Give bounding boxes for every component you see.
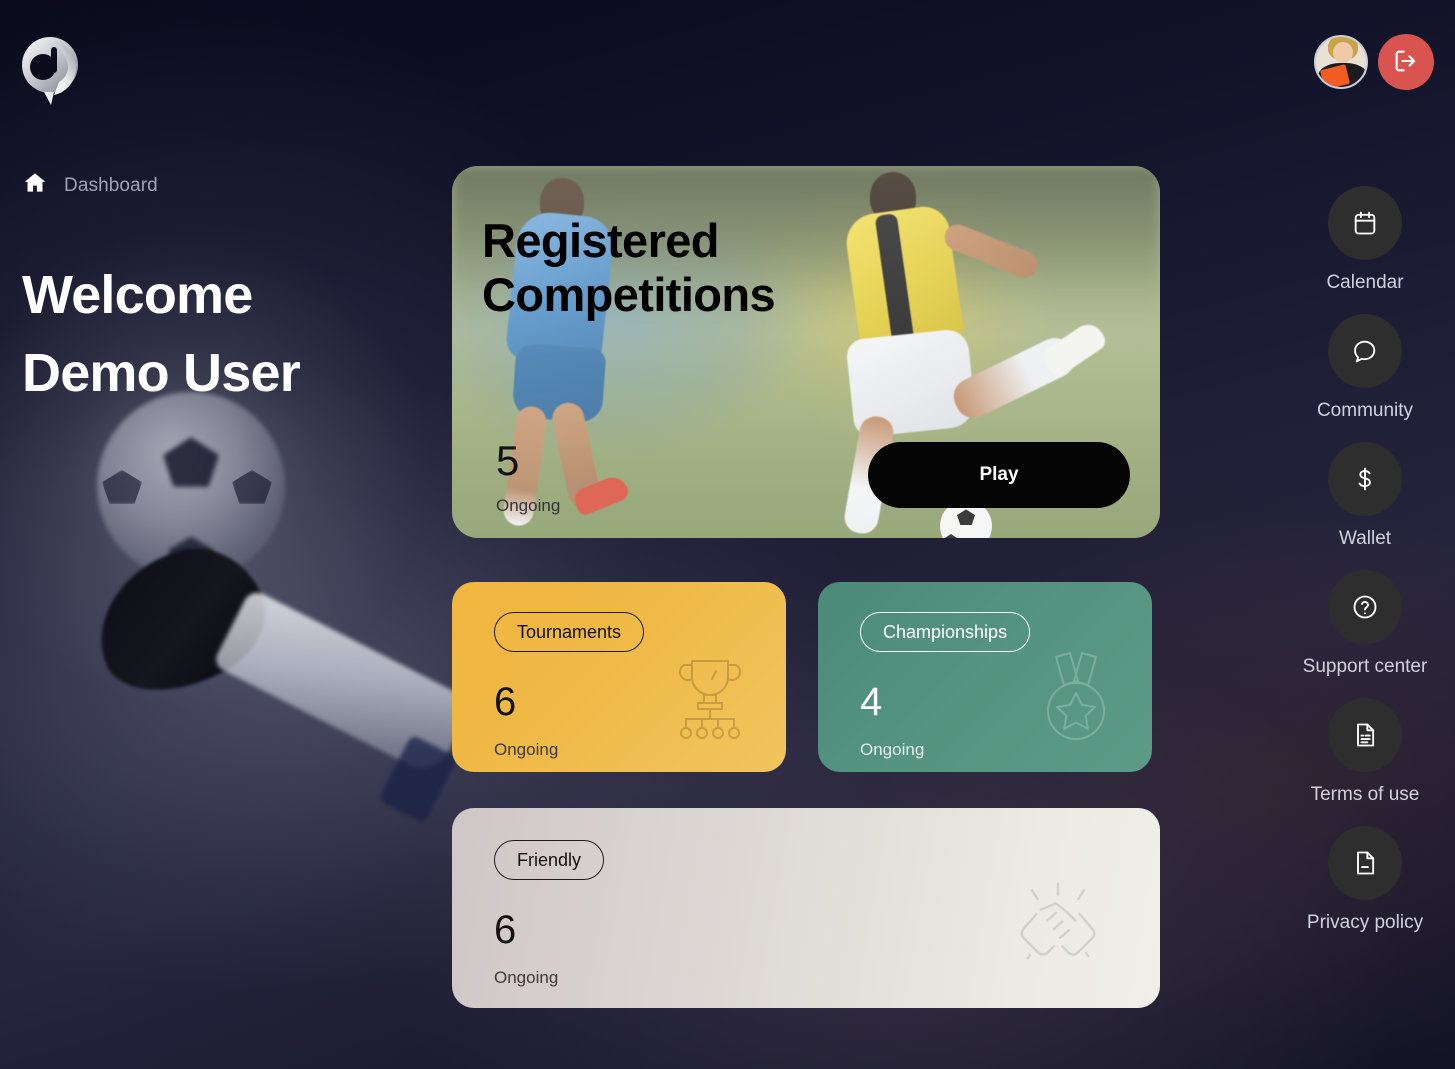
chat-bubble-icon — [1328, 314, 1402, 388]
tournaments-card[interactable]: Tournaments 6 Ongoing — [452, 582, 786, 772]
welcome-username: Demo User — [22, 334, 300, 412]
nav-item-wallet[interactable]: Wallet — [1275, 442, 1455, 550]
championships-card[interactable]: Championships 4 Ongoing — [818, 582, 1152, 772]
top-bar — [0, 0, 1455, 140]
friendly-count: 6 — [494, 910, 1160, 950]
nav-item-community[interactable]: Community — [1275, 314, 1455, 422]
registered-competitions-card[interactable]: Registered Competitions 5 Ongoing Play — [452, 166, 1160, 538]
championships-status: Ongoing — [860, 740, 1152, 760]
nav-label-wallet: Wallet — [1339, 528, 1391, 550]
avatar-face — [1333, 42, 1353, 63]
question-circle-icon — [1328, 570, 1402, 644]
friendly-status: Ongoing — [494, 968, 1160, 988]
brand-logo-icon[interactable] — [21, 35, 80, 105]
logout-button[interactable] — [1378, 34, 1434, 90]
nav-item-support-center[interactable]: Support center — [1275, 570, 1455, 678]
user-avatar[interactable] — [1314, 35, 1368, 89]
logout-icon — [1392, 47, 1420, 78]
tournaments-status: Ongoing — [494, 740, 786, 760]
nav-item-calendar[interactable]: Calendar — [1275, 186, 1455, 294]
nav-label-support-center: Support center — [1303, 656, 1428, 678]
hero-title: Registered Competitions — [482, 214, 862, 322]
welcome-block: Welcome Demo User — [22, 256, 300, 412]
calendar-icon — [1328, 186, 1402, 260]
play-button[interactable]: Play — [868, 442, 1130, 508]
championships-chip: Championships — [860, 612, 1030, 652]
header-actions — [1314, 34, 1434, 90]
tournaments-chip: Tournaments — [494, 612, 644, 652]
nav-label-privacy-policy: Privacy policy — [1307, 912, 1423, 934]
breadcrumb[interactable]: Dashboard — [22, 170, 158, 201]
friendly-chip: Friendly — [494, 840, 604, 880]
nav-label-calendar: Calendar — [1326, 272, 1403, 294]
nav-item-privacy-policy[interactable]: Privacy policy — [1275, 826, 1455, 934]
hero-status: Ongoing — [496, 496, 560, 516]
stat-card-row: Tournaments 6 Ongoing — [452, 582, 1160, 772]
hero-stat: 5 Ongoing — [496, 440, 560, 516]
document-lines-icon — [1328, 698, 1402, 772]
right-sidebar-nav: Calendar Community Wallet Support center — [1275, 186, 1455, 954]
nav-item-terms-of-use[interactable]: Terms of use — [1275, 698, 1455, 806]
home-icon — [22, 170, 48, 201]
cards-column: Registered Competitions 5 Ongoing Play T… — [452, 166, 1160, 1008]
tournaments-count: 6 — [494, 682, 786, 722]
dollar-icon — [1328, 442, 1402, 516]
welcome-greeting: Welcome — [22, 256, 300, 334]
championships-count: 4 — [860, 682, 1152, 722]
friendly-card[interactable]: Friendly 6 Ongoing — [452, 808, 1160, 1008]
nav-label-terms-of-use: Terms of use — [1311, 784, 1420, 806]
nav-label-community: Community — [1317, 400, 1413, 422]
breadcrumb-label: Dashboard — [64, 175, 158, 197]
document-minus-icon — [1328, 826, 1402, 900]
hero-count: 5 — [496, 440, 560, 482]
